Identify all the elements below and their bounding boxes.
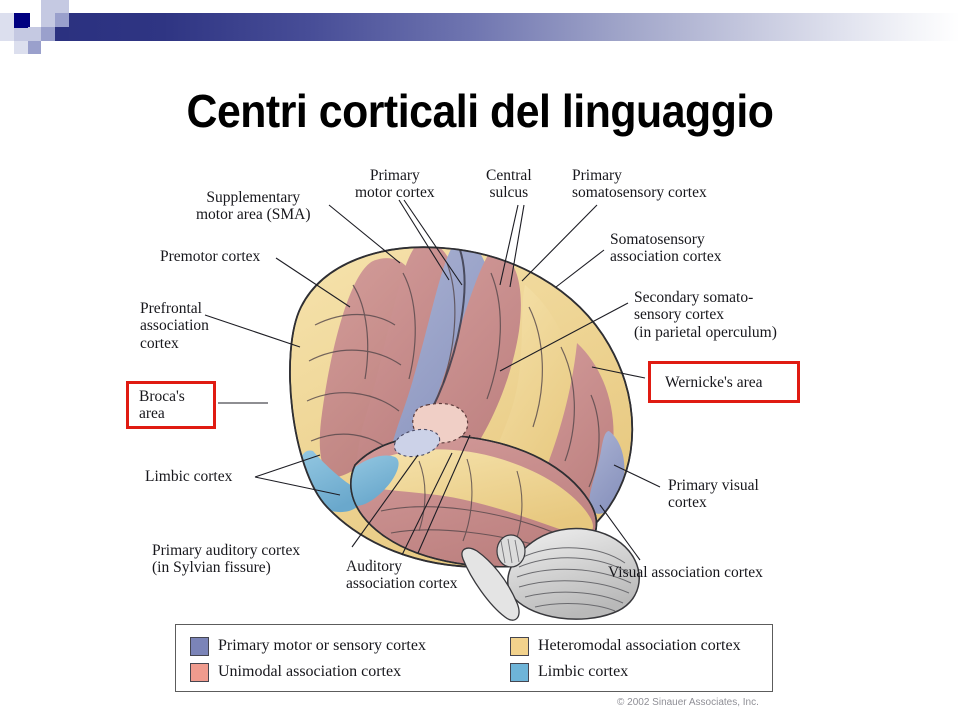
label-secondary-somatosensory-cortex: Secondary somato- sensory cortex (in par…	[634, 289, 777, 341]
label-primary-motor-cortex: Primary motor cortex	[355, 167, 435, 202]
wernickes-area-highlight-box[interactable]: Wernicke's area	[648, 361, 800, 403]
copyright-notice: © 2002 Sinauer Associates, Inc.	[617, 697, 759, 708]
label-central-sulcus: Central sulcus	[486, 167, 532, 202]
deco-square	[28, 27, 41, 41]
legend: Primary motor or sensory cortex Heteromo…	[175, 624, 773, 692]
legend-label: Limbic cortex	[538, 663, 628, 681]
label-primary-auditory-cortex: Primary auditory cortex (in Sylvian fiss…	[152, 542, 300, 577]
deco-square	[55, 0, 69, 13]
legend-swatch-limbic	[510, 663, 529, 682]
deco-square	[0, 27, 14, 41]
legend-swatch-primary	[190, 637, 209, 656]
deco-square	[0, 13, 14, 27]
header-decoration	[0, 0, 960, 70]
legend-item-primary-motor-or-sensory-cortex: Primary motor or sensory cortex	[190, 637, 510, 656]
label-primary-visual-cortex: Primary visual cortex	[668, 477, 759, 512]
legend-swatch-heteromodal	[510, 637, 529, 656]
deco-square	[41, 13, 55, 27]
label-prefrontal-association-cortex: Prefrontal association cortex	[140, 300, 209, 352]
label-auditory-association-cortex: Auditory association cortex	[346, 558, 457, 593]
label-brocas-area: Broca's area	[139, 388, 213, 423]
legend-item-heteromodal-association-cortex: Heteromodal association cortex	[510, 637, 780, 656]
label-visual-association-cortex: Visual association cortex	[608, 564, 763, 581]
deco-square	[55, 27, 69, 41]
accent-square-navy	[14, 13, 30, 28]
legend-label: Primary motor or sensory cortex	[218, 637, 426, 655]
page-title: Centri corticali del linguaggio	[34, 84, 927, 138]
legend-label: Unimodal association cortex	[218, 663, 401, 681]
label-premotor-cortex: Premotor cortex	[160, 248, 260, 265]
deco-square	[14, 27, 28, 41]
label-wernickes-area: Wernicke's area	[665, 374, 797, 391]
header-gradient-bar	[55, 13, 960, 41]
label-primary-somatosensory-cortex: Primary somatosensory cortex	[572, 167, 707, 202]
legend-item-unimodal-association-cortex: Unimodal association cortex	[190, 663, 510, 682]
label-supplementary-motor-area: Supplementary motor area (SMA)	[196, 189, 311, 224]
legend-item-limbic-cortex: Limbic cortex	[510, 663, 780, 682]
deco-square	[41, 0, 55, 13]
deco-square	[28, 41, 41, 54]
brocas-area-highlight-box[interactable]: Broca's area	[126, 381, 216, 429]
label-limbic-cortex: Limbic cortex	[145, 468, 232, 485]
legend-swatch-unimodal	[190, 663, 209, 682]
deco-square	[14, 41, 28, 54]
label-somatosensory-association-cortex: Somatosensory association cortex	[610, 231, 721, 266]
deco-square	[41, 27, 55, 41]
deco-square	[55, 13, 69, 27]
legend-label: Heteromodal association cortex	[538, 637, 741, 655]
